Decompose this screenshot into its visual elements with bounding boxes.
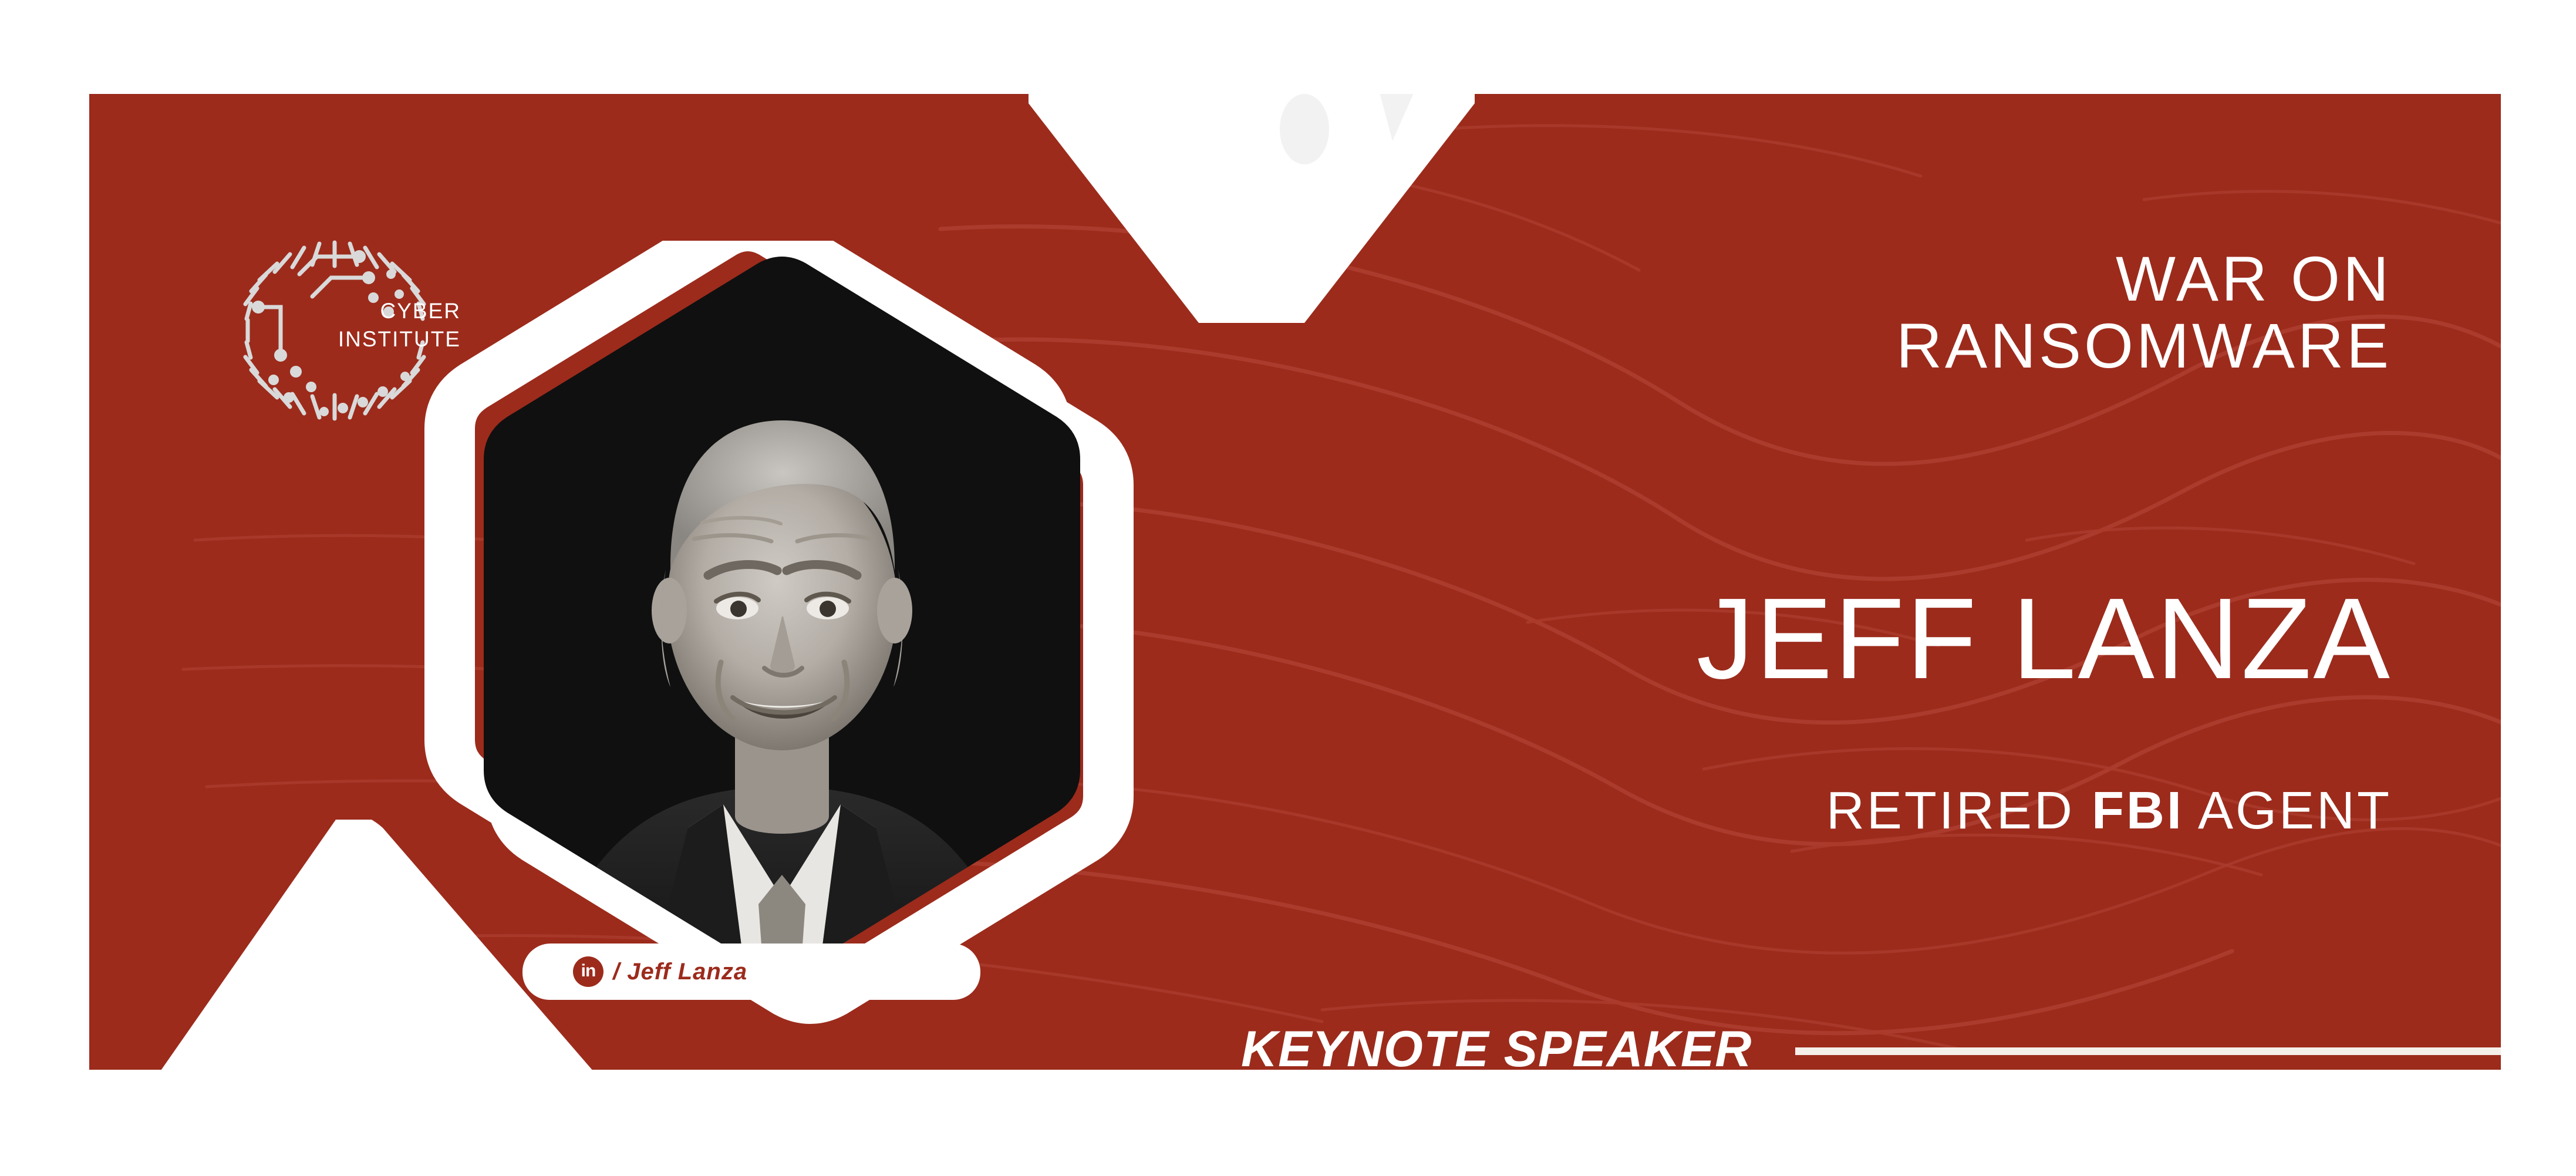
keynote-label: KEYNOTE SPEAKER: [1241, 1024, 1752, 1070]
title-line-1: WAR ON: [1896, 245, 2392, 312]
title-line-2: RANSOMWARE: [1896, 312, 2392, 379]
linkedin-icon[interactable]: in: [573, 956, 603, 987]
speaker-name: JEFF LANZA: [1697, 581, 2392, 696]
speaker-role: RETIRED FBI AGENT: [1826, 784, 2392, 837]
keynote-divider-rule: [1795, 1047, 2501, 1055]
role-suffix: AGENT: [2184, 781, 2392, 840]
role-bold: FBI: [2092, 781, 2184, 840]
keynote-row: KEYNOTE SPEAKER: [1241, 1017, 2501, 1070]
linkedin-badge[interactable]: in / Jeff Lanza: [522, 944, 980, 1000]
role-prefix: RETIRED: [1826, 781, 2092, 840]
red-banner: CYBER INSTITUTE: [89, 94, 2501, 1070]
linkedin-handle[interactable]: / Jeff Lanza: [613, 959, 747, 985]
banner-canvas: CYBER INSTITUTE: [0, 0, 2576, 1176]
event-title: WAR ON RANSOMWARE: [1896, 245, 2392, 380]
